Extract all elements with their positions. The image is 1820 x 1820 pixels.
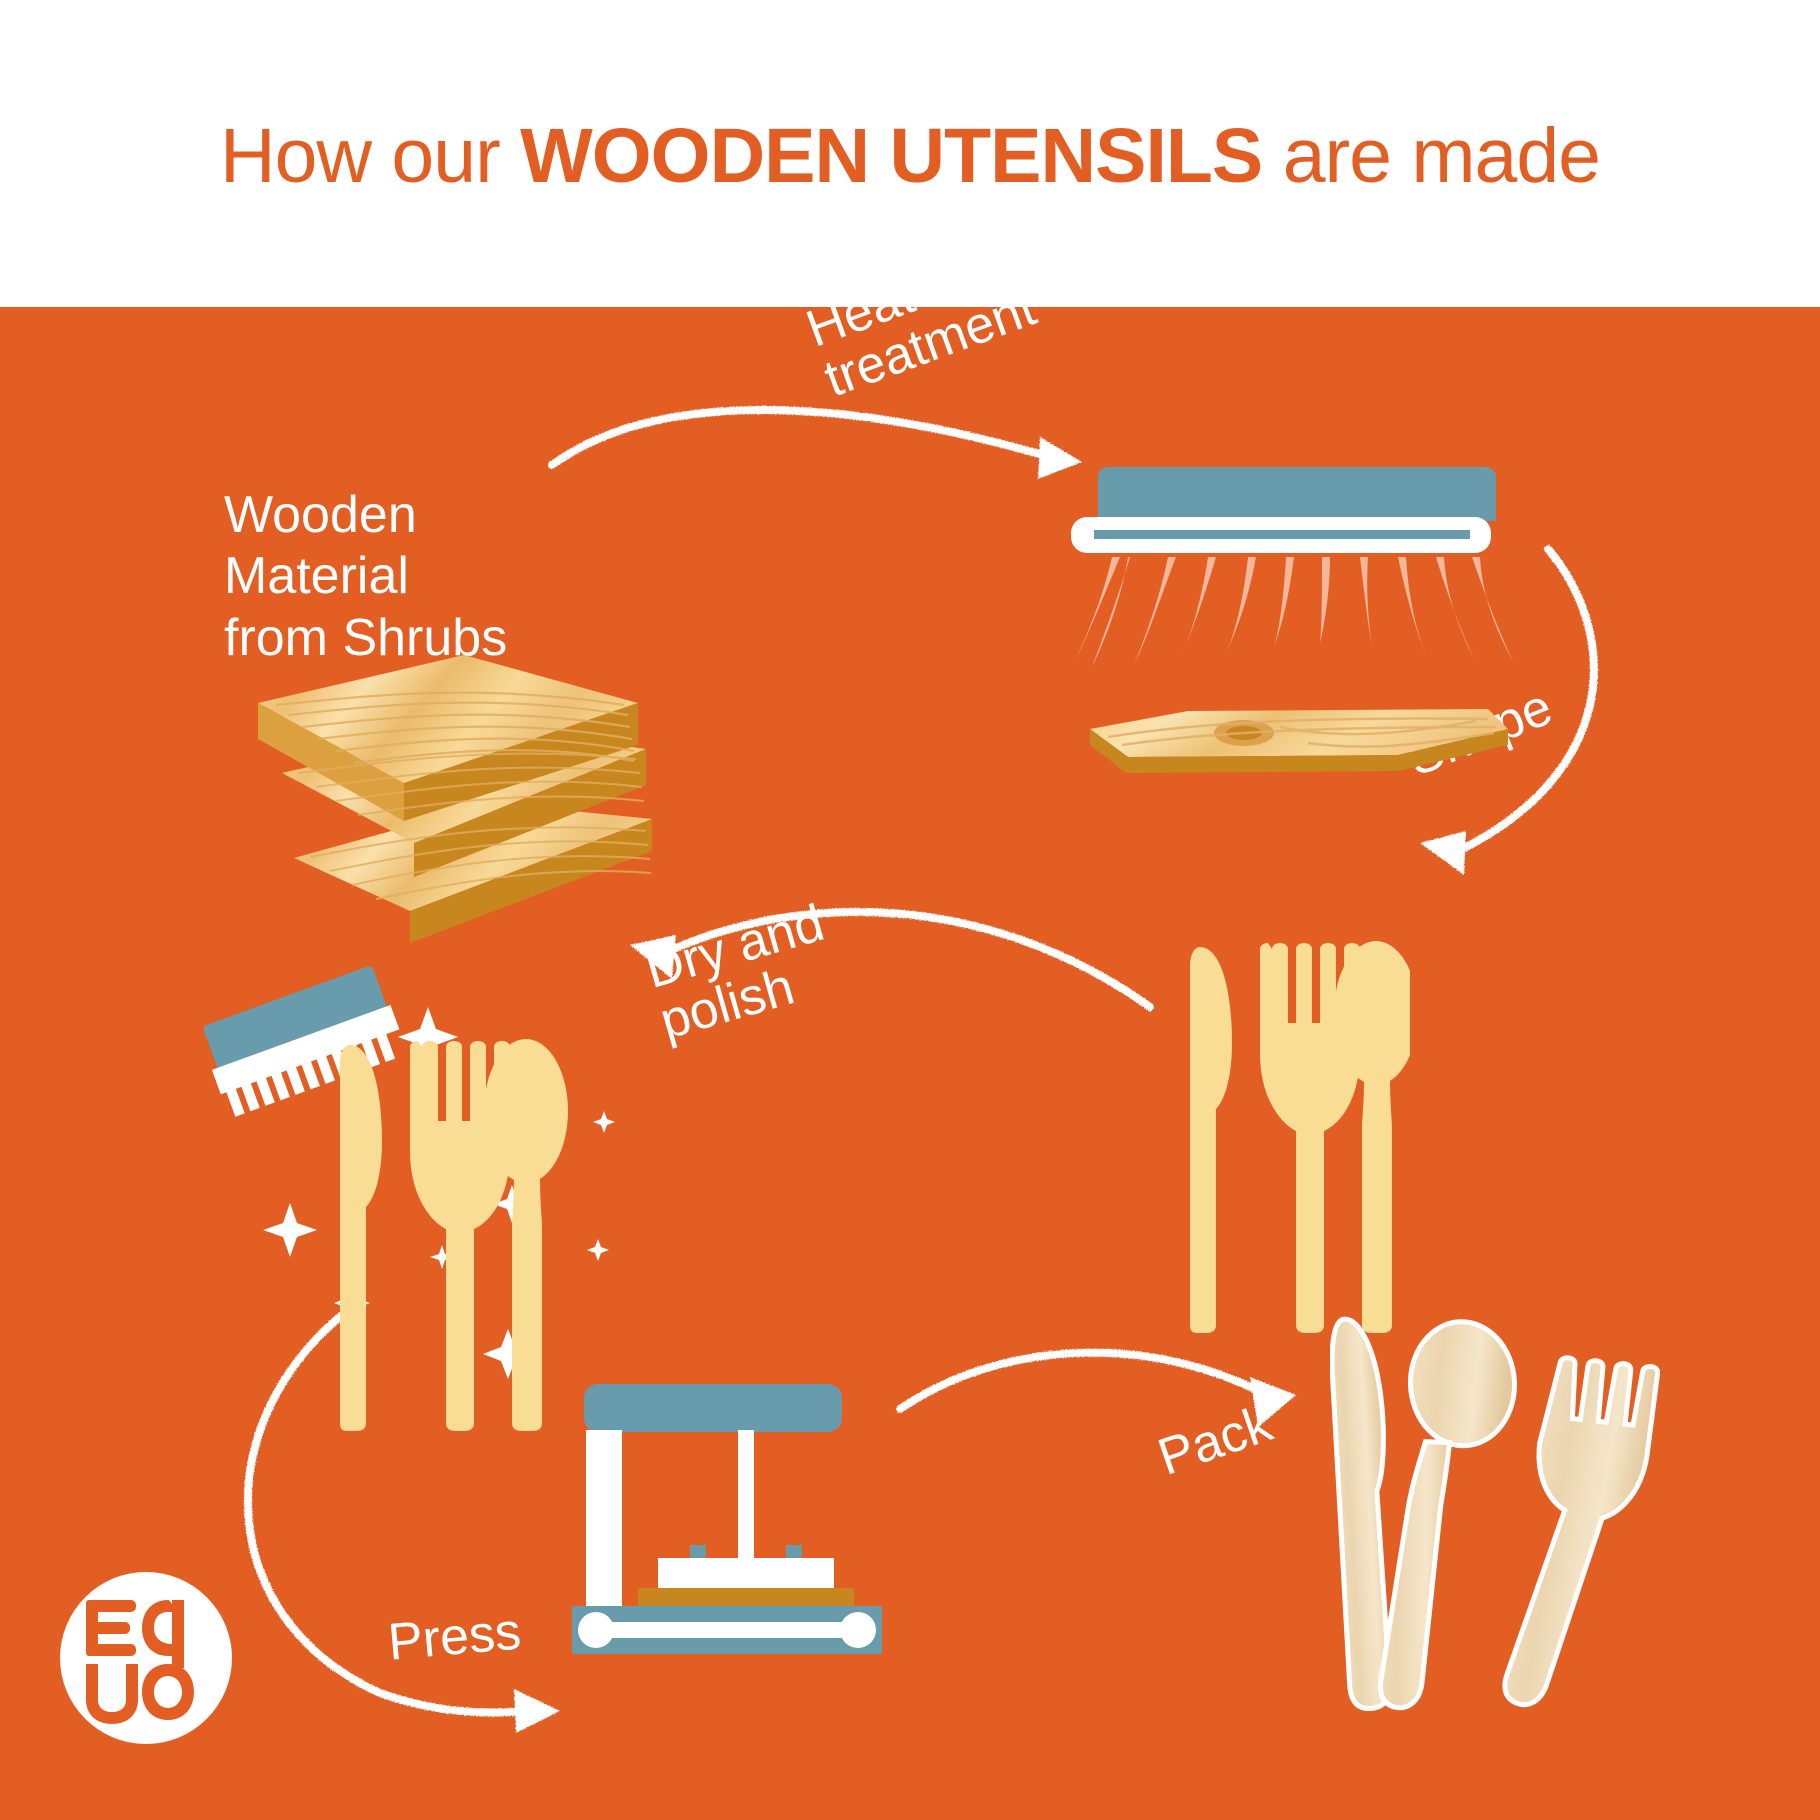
press-top-bar: [584, 1384, 842, 1432]
title-suffix: are made: [1262, 113, 1600, 199]
packed-utensils-illustration: [1330, 1307, 1660, 1767]
material-label: Wooden Material from Shrubs: [224, 485, 507, 669]
wood-planks-illustration: [232, 643, 652, 943]
title-bold: WOODEN UTENSILS: [520, 113, 1262, 199]
photo-spoon: [1362, 1319, 1532, 1709]
press-roller-left: [578, 1612, 614, 1648]
infographic-page: How our WOODEN UTENSILS are made: [0, 0, 1820, 1820]
polished-utensils-illustration: [190, 967, 620, 1487]
photo-fork: [1503, 1355, 1658, 1715]
press-machine-illustration: [568, 1382, 928, 1712]
process-diagram: Wooden Material from Shrubs Heat treatme…: [0, 307, 1820, 1820]
header-band: How our WOODEN UTENSILS are made: [0, 0, 1820, 307]
title-prefix: How our: [220, 113, 520, 199]
equo-logo-mark: [86, 1600, 194, 1724]
heat-rays: [1074, 557, 1514, 667]
shaped-utensils-illustration: [1190, 927, 1410, 1347]
heat-machine-illustration: [1068, 445, 1528, 865]
knife-shape: [1190, 947, 1232, 1333]
arrow-heat-treatment: [552, 410, 1082, 479]
equo-logo: [60, 1572, 232, 1744]
page-title: How our WOODEN UTENSILS are made: [0, 118, 1820, 195]
press-roller-right: [840, 1612, 876, 1648]
press-platen: [658, 1558, 834, 1590]
